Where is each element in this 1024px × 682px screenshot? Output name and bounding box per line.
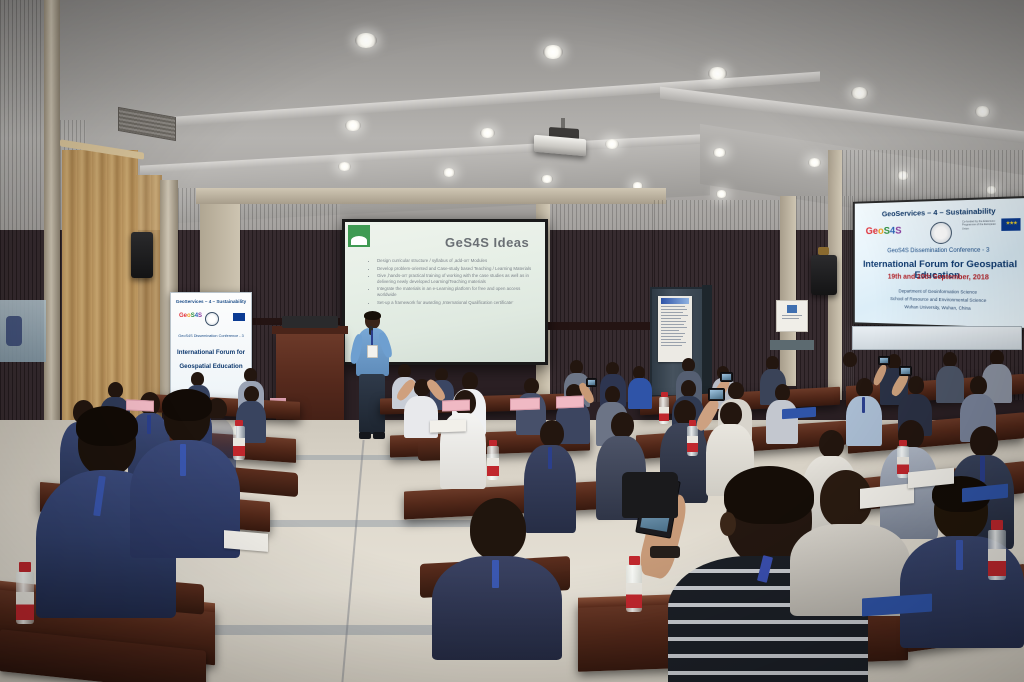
ceiling-downlight [605, 139, 619, 149]
ceiling-downlight [716, 190, 727, 198]
slide-title: GeS4S Ideas [445, 235, 529, 250]
banner-conference-line: GeoS4S Dissemination Conference - 3 [855, 247, 1024, 254]
ceiling-downlight [851, 87, 868, 99]
smartphone [720, 372, 733, 382]
presenter-hair [364, 311, 381, 320]
wall-notice-strip [770, 340, 814, 350]
smartphone [899, 366, 912, 376]
ceiling-downlight [708, 67, 727, 80]
handout-paper [430, 419, 466, 432]
blue-folder [782, 407, 816, 419]
rollup-top-line: GeoServices – 4 – Sustainability [171, 299, 251, 304]
main-conference-banner: GeoServices – 4 – Sustainability GeoS4S … [853, 196, 1024, 330]
ges4s-logo [348, 225, 370, 247]
geos4s-logo: GeoS4S [866, 226, 902, 237]
ceiling-downlight [808, 158, 821, 167]
banner-top-line: GeoServices – 4 – Sustainability [855, 205, 1024, 219]
ceiling-downlight [355, 33, 377, 48]
name-placard [442, 400, 470, 412]
rollup-headline-1: International Forum for [171, 349, 251, 356]
water-bottle [658, 392, 670, 424]
name-placard [126, 399, 154, 411]
rollup-conference-line: GeoS4S Dissemination Conference - 3 [171, 334, 251, 338]
presenter-lanyard [371, 330, 373, 346]
conference-programme-sheet [658, 296, 692, 362]
slide-bullet: Integrate the materials in an e-Learning… [377, 286, 539, 297]
eu-flag: ★★★ [1001, 218, 1020, 231]
attendee-ear [720, 512, 736, 536]
name-placard [510, 397, 540, 410]
ceiling-downlight [543, 45, 563, 59]
wall-trim-band [548, 322, 654, 330]
ceiling-downlight [975, 106, 990, 117]
slide-bullet: Give ‚hands-on' practical training of wo… [377, 273, 539, 284]
banner-org-line-2: School of Resource and Environmental Sci… [855, 296, 1024, 304]
slide-bullet-list: Design curricular structure / syllabus o… [367, 258, 539, 307]
glass-partition-figure [6, 316, 22, 346]
handout-paper [224, 530, 268, 552]
ceiling-downlight [713, 148, 726, 157]
ceiling-downlight [345, 120, 361, 131]
presenter [352, 312, 392, 442]
water-bottle [486, 440, 500, 480]
water-bottle [14, 562, 36, 624]
backpack [622, 472, 678, 518]
university-seal [205, 312, 219, 326]
water-bottle [686, 420, 699, 456]
banner-org-line-1: Department of Geoinformation Science [855, 288, 1024, 296]
lectern-monitor [282, 316, 338, 328]
banner-lower-strip [852, 326, 1022, 350]
ceiling-downlight [480, 128, 495, 138]
smartphone [878, 356, 890, 365]
wall-speaker-right [811, 255, 837, 295]
banner-dates: 19th and 20th September, 2018 [855, 274, 1024, 282]
attendee [432, 498, 562, 648]
foreground-attendee-left-2 [130, 392, 240, 552]
wall-soffit [196, 188, 666, 204]
slide-bullet: Set-up a framework for awarding ‚Interna… [377, 300, 539, 306]
room-information-sign [776, 300, 808, 332]
slide-bullet: Design curricular structure / syllabus o… [377, 258, 539, 264]
door-frame [702, 285, 712, 395]
window-curtain [136, 175, 162, 425]
speaker-bracket [818, 247, 829, 255]
wristwatch [650, 546, 680, 558]
attendee [628, 366, 652, 408]
lecture-hall-photo: GeS4S Ideas Design curricular structure … [0, 0, 1024, 682]
university-seal [930, 222, 952, 244]
ceiling-downlight [443, 168, 455, 177]
slide-bullet: Develop problem-oriented and Case-study … [377, 266, 539, 272]
water-bottle [624, 556, 644, 612]
presenter-shoe [373, 432, 385, 439]
ceiling-downlight [338, 162, 351, 171]
eu-flag [233, 313, 245, 321]
water-bottle [986, 520, 1008, 580]
banner-org-line-3: Wuhan University, Wuhan, China [855, 303, 1024, 312]
eu-funding-note: Co-funded by the Erasmus+ Programme of t… [962, 220, 999, 235]
presenter-shoe [359, 432, 371, 439]
ceiling-downlight [541, 175, 553, 183]
geos4s-logo: GeoS4S [179, 313, 202, 319]
presenter-badge [367, 345, 378, 358]
name-placard [556, 396, 584, 409]
water-bottle [232, 420, 246, 460]
smartphone [708, 388, 725, 401]
wall-speaker-left [131, 232, 153, 278]
